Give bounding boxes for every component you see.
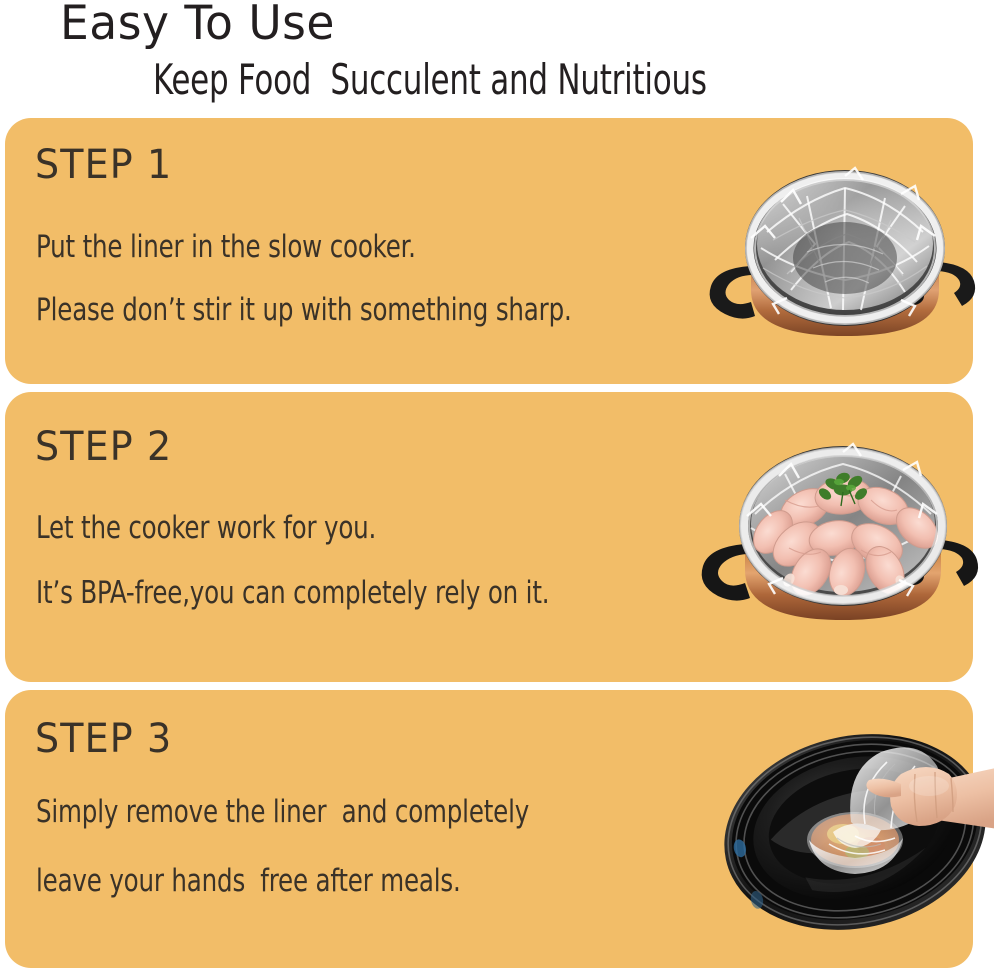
step-panel-1: STEP 1 Put the liner in the slow cooker.…	[5, 118, 973, 384]
step-3-line-b: leave your hands free after meals.	[36, 863, 461, 899]
step-2-line-a: Let the cooker work for you.	[36, 510, 376, 546]
infographic-page: Easy To Use Keep Food Succulent and Nutr…	[0, 0, 994, 976]
step-2-line-b: It’s BPA-free,you can completely rely on…	[36, 575, 549, 611]
step-panel-2: STEP 2 Let the cooker work for you. It’s…	[5, 392, 973, 682]
step-3-photo	[705, 704, 994, 959]
step-1-heading: STEP 1	[35, 142, 172, 188]
page-subtitle: Keep Food Succulent and Nutritious	[153, 55, 707, 104]
step-panel-3: STEP 3 Simply remove the liner and compl…	[5, 690, 973, 968]
step-3-heading: STEP 3	[35, 716, 172, 762]
step-3-line-a: Simply remove the liner and completely	[36, 794, 529, 830]
step-1-line-a: Put the liner in the slow cooker.	[36, 229, 416, 265]
step-1-photo	[695, 140, 994, 380]
step-2-heading: STEP 2	[35, 424, 172, 470]
page-title: Easy To Use	[60, 0, 335, 51]
step-1-line-b: Please don’t stir it up with something s…	[36, 292, 572, 328]
step-2-photo	[685, 404, 994, 674]
